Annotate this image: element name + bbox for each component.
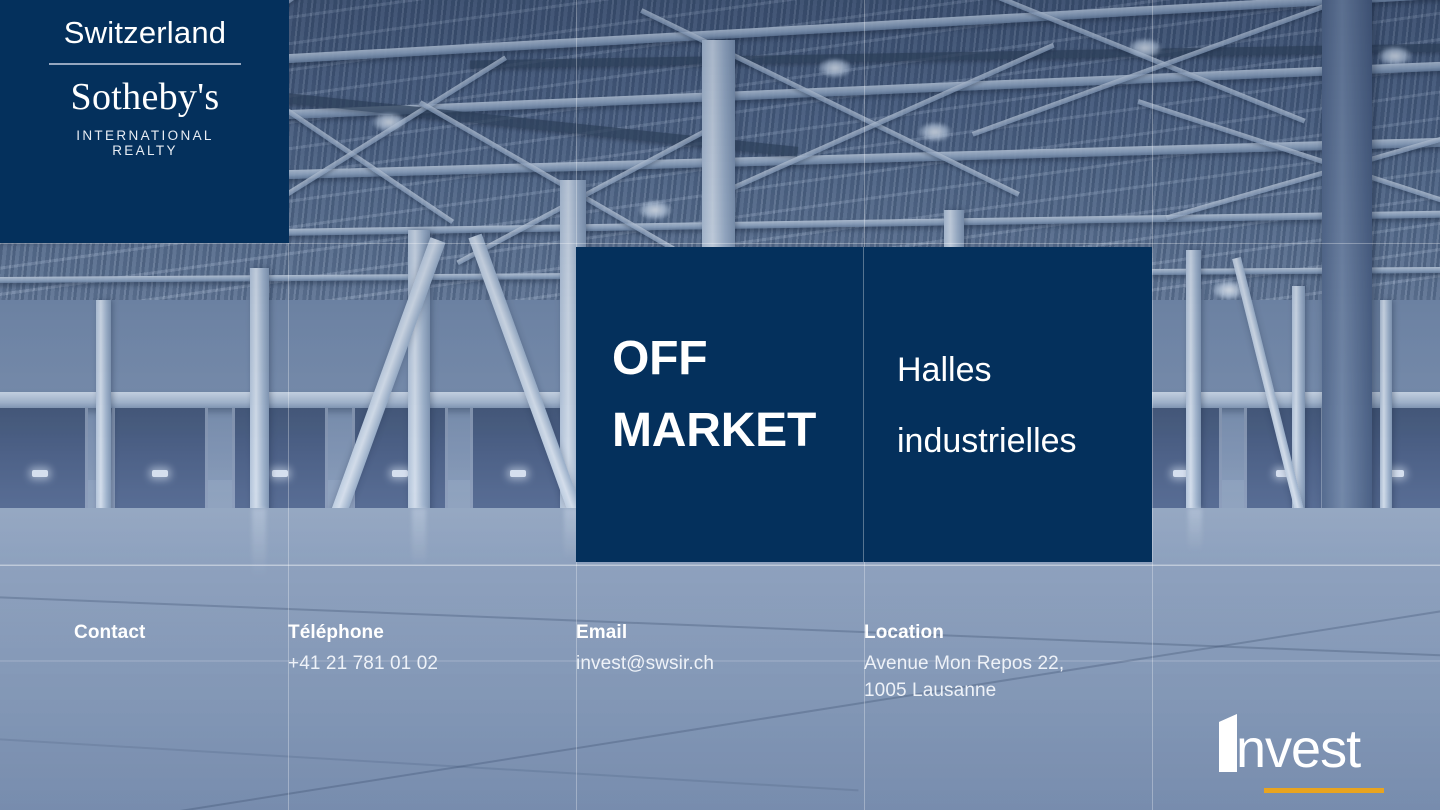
logo-divider-rule — [49, 63, 241, 65]
sothebys-logo-inner: Switzerland Sotheby's INTERNATIONAL REAL… — [49, 12, 241, 158]
contact-label: Téléphone — [288, 620, 438, 646]
card-headline: OFF MARKET — [612, 323, 862, 467]
card-subtitle-line1: Halles — [897, 335, 1147, 406]
contact-column-contact: Contact — [74, 620, 145, 650]
invest-accent-bar — [1264, 788, 1384, 793]
contact-label: Location — [864, 620, 1064, 646]
off-market-card: OFF MARKET Halles industrielles — [576, 247, 1152, 562]
logo-brand-name: Sotheby's — [49, 77, 241, 119]
card-headline-line2: MARKET — [612, 395, 862, 467]
contact-value[interactable]: +41 21 781 01 02 — [288, 650, 438, 678]
contact-column-email: Email invest@swsir.ch — [576, 620, 714, 677]
invest-wordmark: nvest — [1236, 722, 1360, 776]
invest-logo: nvest — [1216, 714, 1384, 796]
logo-tagline: INTERNATIONAL REALTY — [49, 128, 241, 158]
card-headline-line1: OFF — [612, 323, 862, 395]
card-subtitle: Halles industrielles — [897, 335, 1147, 478]
sothebys-logo-block: Switzerland Sotheby's INTERNATIONAL REAL… — [0, 0, 289, 243]
card-subtitle-line2: industrielles — [897, 406, 1147, 477]
logo-country-label: Switzerland — [49, 12, 241, 54]
layout-guide-horizontal — [0, 565, 1440, 566]
contact-label: Email — [576, 620, 714, 646]
card-subtitle-pane: Halles industrielles — [863, 247, 1152, 562]
layout-guide-horizontal — [0, 243, 1440, 244]
contact-row: Contact Téléphone +41 21 781 01 02 Email… — [0, 620, 1440, 720]
contact-value[interactable]: invest@swsir.ch — [576, 650, 714, 678]
slide-canvas: Switzerland Sotheby's INTERNATIONAL REAL… — [0, 0, 1440, 810]
contact-value: Avenue Mon Repos 22, 1005 Lausanne — [864, 650, 1064, 705]
card-headline-pane: OFF MARKET — [576, 247, 863, 562]
contact-label: Contact — [74, 620, 145, 646]
contact-column-telephone: Téléphone +41 21 781 01 02 — [288, 620, 438, 677]
contact-column-location: Location Avenue Mon Repos 22, 1005 Lausa… — [864, 620, 1064, 705]
